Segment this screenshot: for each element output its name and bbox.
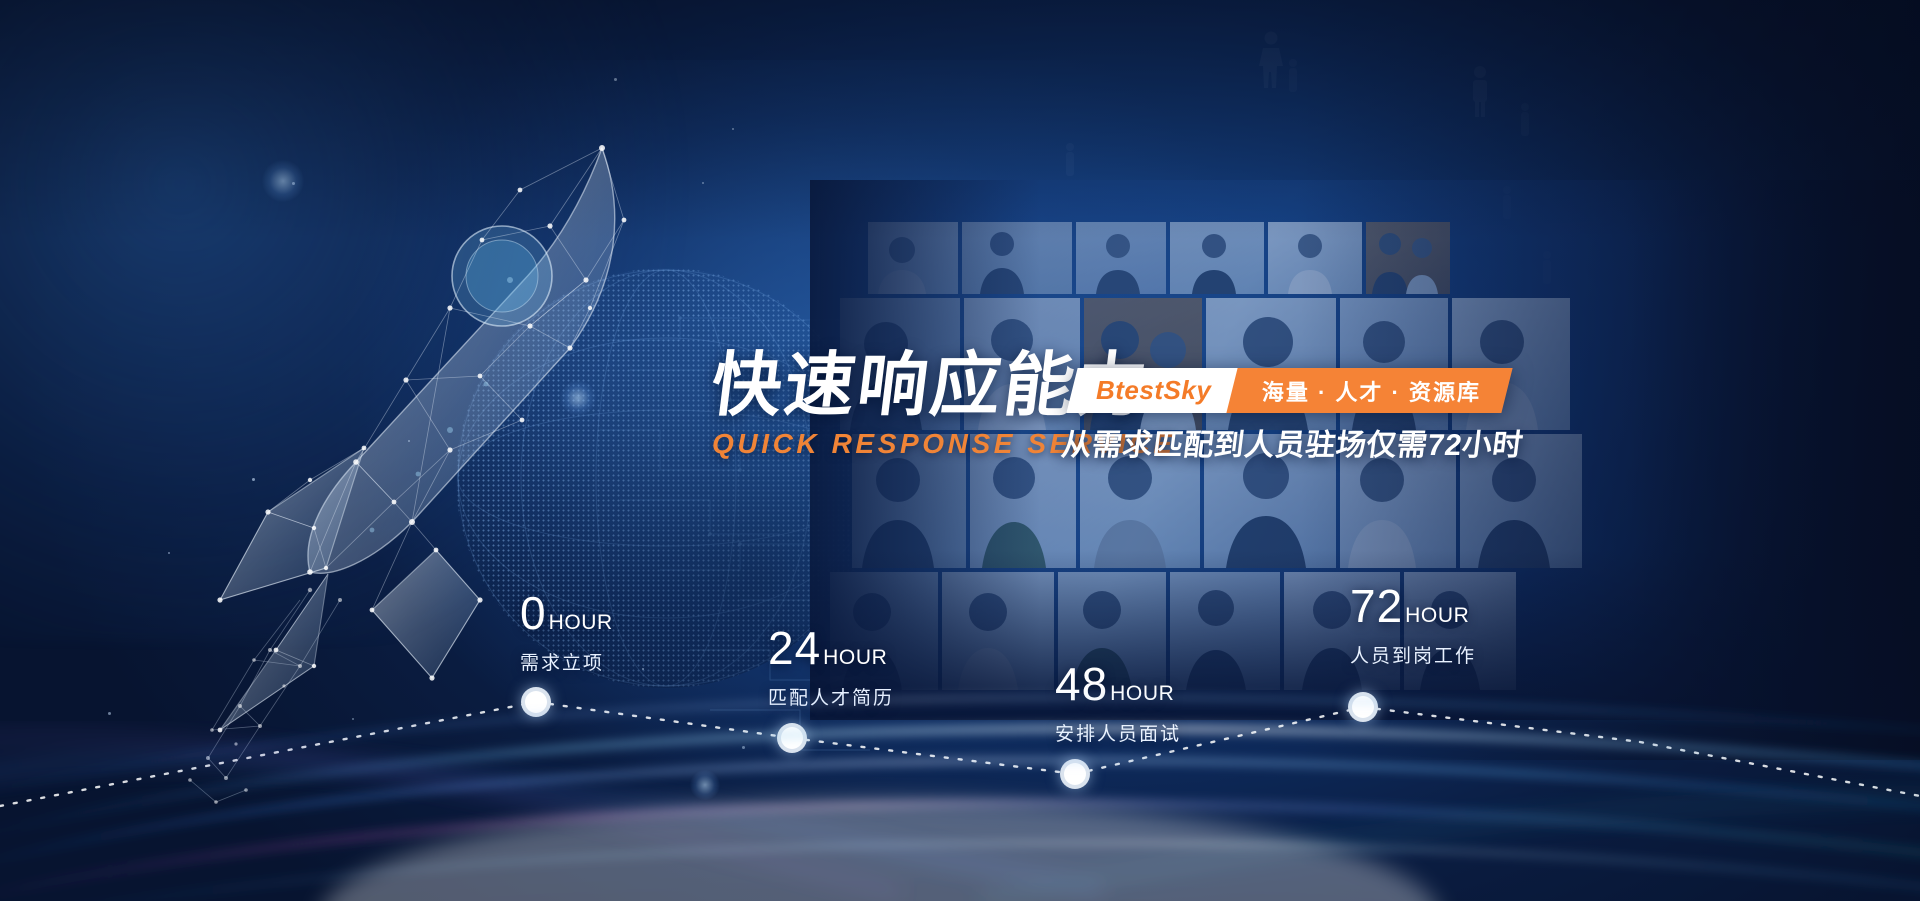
hero-banner: 快速响应能力 QUICK RESPONSE SERVICE BtestSky 海… (0, 0, 1920, 901)
brand-name: BtestSky (1096, 375, 1211, 406)
brand-slogan-chip: 海量 · 人才 · 资源库 (1227, 368, 1513, 413)
brand-badge: BtestSky 海量 · 人才 · 资源库 (1072, 368, 1507, 413)
brand-slogan: 海量 · 人才 · 资源库 (1262, 375, 1481, 407)
aurora-light-streaks (0, 601, 1920, 901)
brand-name-chip: BtestSky (1066, 368, 1239, 413)
tagline: 从需求匹配到人员驻场仅需72小时 (1059, 420, 1526, 464)
